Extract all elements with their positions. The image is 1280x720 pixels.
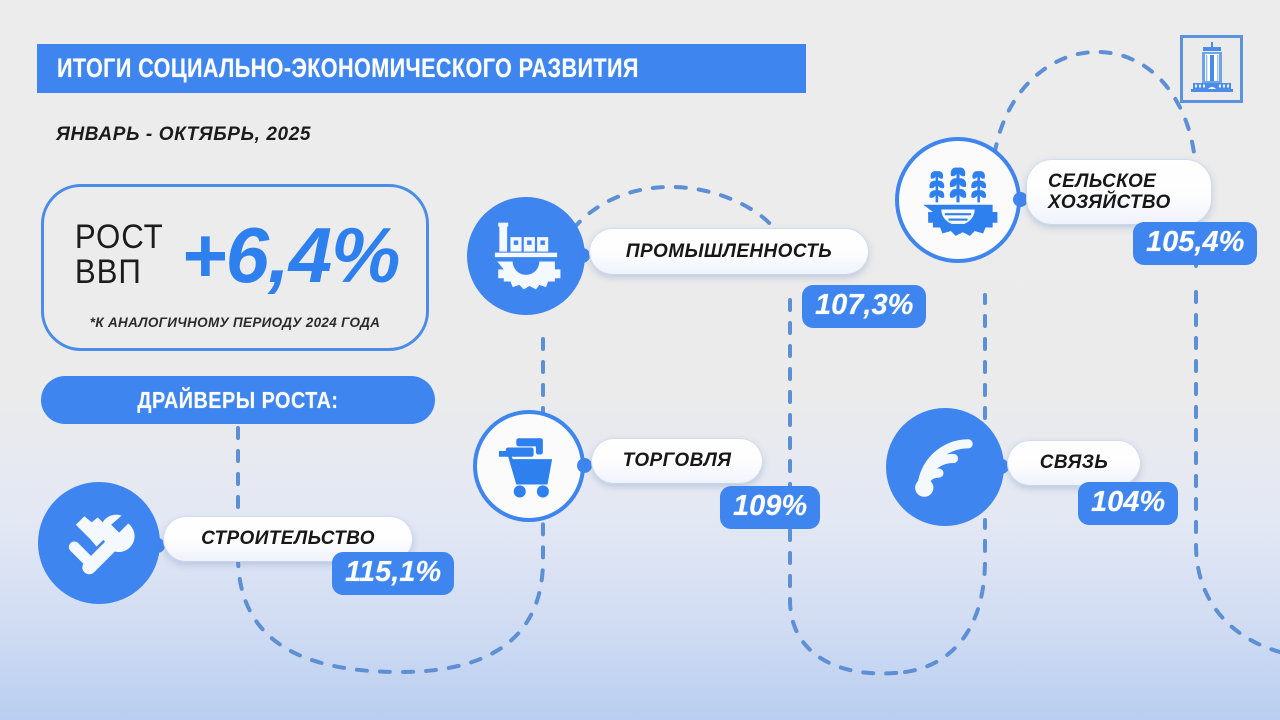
factory-gear-glyph [486, 216, 566, 296]
connector-dot-trade [577, 458, 592, 473]
sector-node-industry[interactable]: ПРОМЫШЛЕННОСТЬ 107,3% [467, 197, 937, 327]
sector-value-industry: 107,3% [802, 285, 926, 328]
sector-value-text: 107,3% [815, 289, 913, 322]
sector-label-communications[interactable]: СВЯЗЬ [1007, 440, 1141, 486]
gdp-value: +6,4% [181, 216, 399, 294]
building-icon [1189, 41, 1235, 95]
sector-label-text: СТРОИТЕЛЬСТВО [201, 528, 375, 549]
page-title: ИТОГИ СОЦИАЛЬНО-ЭКОНОМИЧЕСКОГО РАЗВИТИЯ [57, 53, 639, 84]
page-subtitle: ЯНВАРЬ - ОКТЯБРЬ, 2025 [56, 124, 311, 146]
wheat-gear-glyph [915, 157, 1001, 243]
factory-gear-icon [467, 197, 585, 315]
gdp-label-line1: РОСТ [74, 220, 163, 255]
growth-drivers-label: ДРАЙВЕРЫ РОСТА: [137, 387, 338, 414]
wifi-signal-icon [886, 408, 1004, 526]
government-building-logo [1180, 35, 1243, 103]
sector-label-text: СЕЛЬСКОЕ ХОЗЯЙСТВО [1048, 171, 1190, 214]
gdp-note: *К АНАЛОГИЧНОМУ ПЕРИОДУ 2024 ГОДА [44, 315, 426, 330]
sector-node-communications[interactable]: СВЯЗЬ 104% [886, 408, 1186, 533]
connector-dot-industry [575, 248, 590, 263]
dashed-connector-path [0, 0, 1280, 720]
sector-node-trade[interactable]: ТОРГОВЛЯ 109% [473, 410, 873, 530]
gdp-growth-card: РОСТ ВВП +6,4% *К АНАЛОГИЧНОМУ ПЕРИОДУ 2… [41, 184, 429, 351]
sector-label-industry[interactable]: ПРОМЫШЛЕННОСТЬ [589, 228, 869, 275]
sector-value-construction: 115,1% [332, 552, 454, 595]
infographic-canvas: ИТОГИ СОЦИАЛЬНО-ЭКОНОМИЧЕСКОГО РАЗВИТИЯ … [0, 0, 1280, 720]
shopping-cart-icon [473, 410, 585, 522]
wheat-gear-icon [895, 137, 1021, 263]
sector-node-construction[interactable]: СТРОИТЕЛЬСТВО 115,1% [38, 485, 458, 595]
shopping-cart-glyph [492, 429, 566, 503]
sector-value-agriculture: 105,4% [1133, 222, 1257, 265]
sector-value-text: 109% [733, 490, 807, 523]
sector-label-text: СВЯЗЬ [1040, 452, 1108, 473]
sector-value-text: 104% [1091, 486, 1165, 519]
sector-value-communications: 104% [1078, 482, 1178, 525]
sector-node-agriculture[interactable]: СЕЛЬСКОЕ ХОЗЯЙСТВО 105,4% [895, 137, 1265, 267]
hammer-wrench-glyph [60, 504, 138, 582]
sector-label-agriculture[interactable]: СЕЛЬСКОЕ ХОЗЯЙСТВО [1026, 159, 1212, 225]
growth-drivers-banner: ДРАЙВЕРЫ РОСТА: [41, 376, 435, 424]
wifi-signal-glyph [906, 428, 984, 506]
sector-value-trade: 109% [720, 486, 820, 529]
sector-label-trade[interactable]: ТОРГОВЛЯ [591, 438, 763, 484]
sector-label-text: ТОРГОВЛЯ [623, 450, 732, 471]
sector-value-text: 105,4% [1146, 226, 1244, 259]
hammer-wrench-icon [38, 482, 160, 604]
gdp-label-line2: ВВП [74, 255, 163, 290]
page-title-bar: ИТОГИ СОЦИАЛЬНО-ЭКОНОМИЧЕСКОГО РАЗВИТИЯ [37, 44, 806, 93]
gdp-label: РОСТ ВВП [74, 220, 163, 289]
sector-value-text: 115,1% [345, 556, 441, 589]
gdp-row: РОСТ ВВП +6,4% [44, 199, 426, 311]
sector-label-text: ПРОМЫШЛЕННОСТЬ [626, 241, 832, 262]
